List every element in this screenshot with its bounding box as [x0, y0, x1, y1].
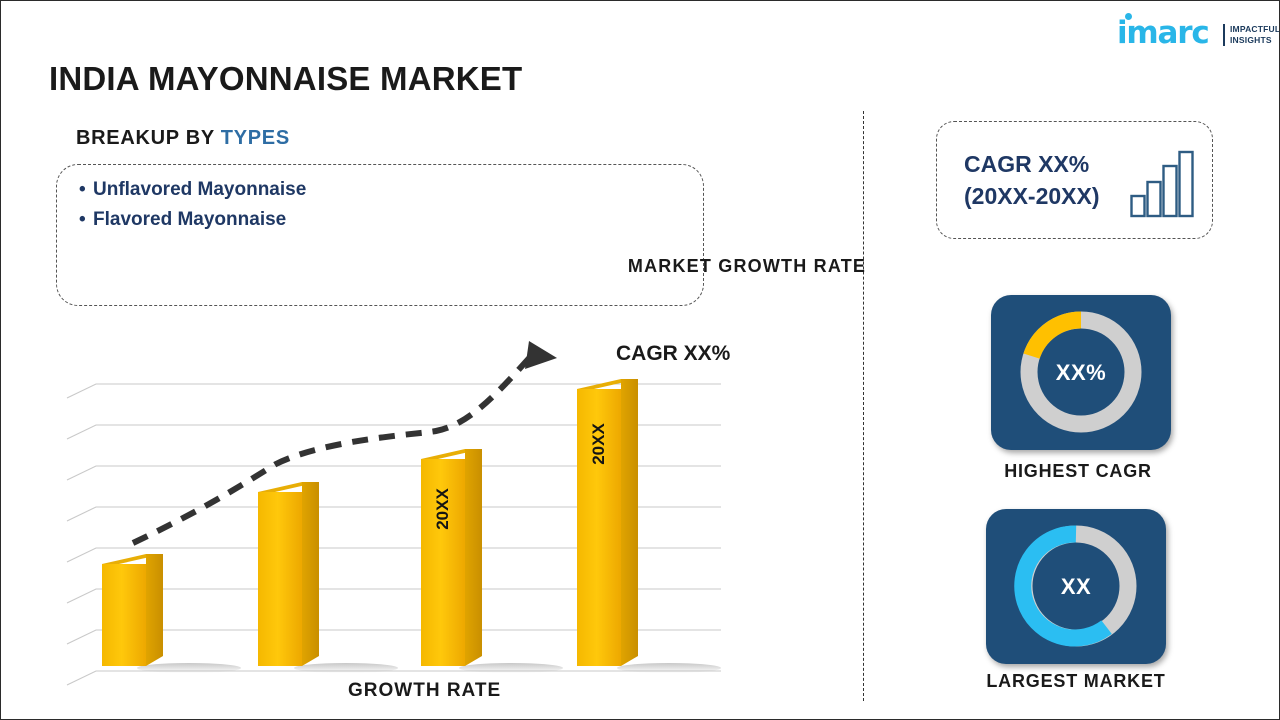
largest-market-caption: LARGEST MARKET — [926, 671, 1226, 692]
largest-market-tile: XX — [986, 509, 1166, 664]
chart-cagr-annotation: CAGR XX% — [616, 342, 730, 366]
imarc-logo: imarc IMPACTFUL INSIGHTS — [1109, 13, 1269, 53]
bar-label-4: 20XX — [589, 417, 609, 471]
bullet-icon: • — [79, 175, 93, 205]
bullet-icon: • — [79, 205, 93, 235]
logo-tagline-line1: IMPACTFUL — [1230, 24, 1280, 35]
market-growth-rate-panel: CAGR XX% (20XX-20XX) — [936, 121, 1213, 239]
breakup-heading: BREAKUP BY TYPES — [76, 127, 290, 150]
types-list: •Unflavored Mayonnaise •Flavored Mayonna… — [79, 175, 306, 235]
logo-divider — [1223, 24, 1225, 46]
logo-tagline-line2: INSIGHTS — [1230, 35, 1280, 46]
trendline — [133, 341, 557, 543]
logo-tagline: IMPACTFUL INSIGHTS — [1230, 24, 1280, 46]
slide-canvas: imarc IMPACTFUL INSIGHTS INDIA MAYONNAIS… — [0, 0, 1280, 720]
bar-label-3: 20XX — [433, 482, 453, 536]
list-item-label: Flavored Mayonnaise — [93, 209, 286, 230]
breakup-heading-accent: TYPES — [221, 127, 290, 149]
list-item: •Unflavored Mayonnaise — [79, 175, 306, 205]
logo-wordmark: imarc — [1117, 18, 1209, 49]
highest-cagr-caption: HIGHEST CAGR — [928, 461, 1228, 482]
cagr-line-1: CAGR XX% — [964, 148, 1100, 180]
mini-bar-chart-icon — [1130, 144, 1196, 218]
types-panel: •Unflavored Mayonnaise •Flavored Mayonna… — [56, 164, 704, 306]
cagr-line-2: (20XX-20XX) — [964, 180, 1100, 212]
bar-chart-svg — [61, 331, 751, 711]
list-item: •Flavored Mayonnaise — [79, 205, 306, 235]
largest-market-value: XX — [986, 509, 1166, 664]
breakup-heading-prefix: BREAKUP BY — [76, 127, 221, 149]
highest-cagr-tile: XX% — [991, 295, 1171, 450]
bar-1 — [102, 554, 163, 666]
chart-x-axis-label: GROWTH RATE — [348, 680, 501, 702]
section-divider — [863, 111, 864, 701]
list-item-label: Unflavored Mayonnaise — [93, 179, 306, 200]
highest-cagr-value: XX% — [991, 295, 1171, 450]
page-title: INDIA MAYONNAISE MARKET — [49, 60, 522, 98]
bar-2 — [258, 482, 319, 666]
growth-rate-bar-chart: 20XX 20XX — [61, 331, 751, 711]
market-growth-rate-text: CAGR XX% (20XX-20XX) — [964, 148, 1100, 212]
